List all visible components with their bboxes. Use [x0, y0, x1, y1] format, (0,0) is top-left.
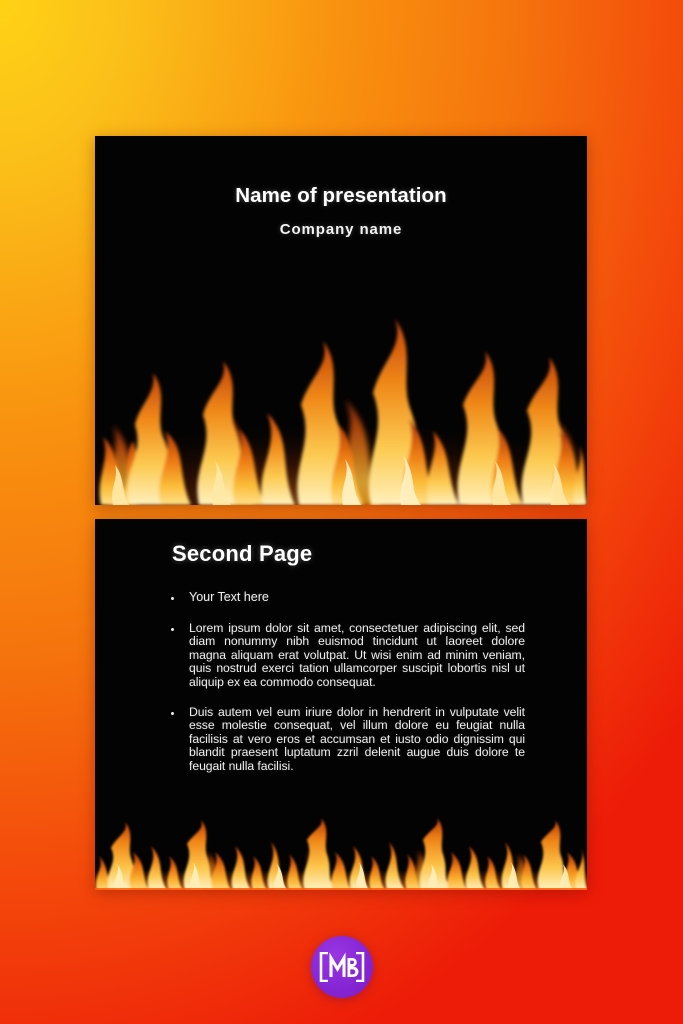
list-item[interactable]: Your Text here — [167, 591, 525, 605]
second-page-heading: Second Page — [172, 541, 312, 567]
bullet-text: Duis autem vel eum iriure dolor in hendr… — [189, 706, 525, 774]
list-item[interactable]: Duis autem vel eum iriure dolor in hendr… — [167, 706, 525, 774]
presentation-title: Name of presentation — [95, 184, 587, 208]
mb-logo[interactable] — [311, 936, 373, 998]
bullet-list: Your Text here Lorem ipsum dolor sit ame… — [167, 591, 525, 790]
list-item[interactable]: Lorem ipsum dolor sit amet, consectetuer… — [167, 622, 525, 690]
bullet-text: Your Text here — [189, 591, 525, 605]
bullet-dot-icon — [171, 597, 174, 600]
bullet-dot-icon — [171, 628, 174, 631]
second-page-slide[interactable]: Second Page Your Text here Lorem ipsum d… — [95, 519, 587, 890]
bullet-dot-icon — [171, 712, 174, 715]
company-name: Company name — [95, 221, 587, 238]
mb-logo-mark — [319, 952, 365, 982]
flame-strip-decoration — [95, 818, 587, 890]
tall-flames-decoration — [95, 265, 587, 505]
bullet-text: Lorem ipsum dolor sit amet, consectetuer… — [189, 622, 525, 690]
title-slide-text-block: Name of presentation Company name — [95, 184, 587, 238]
title-slide[interactable]: Name of presentation Company name — [95, 136, 587, 505]
